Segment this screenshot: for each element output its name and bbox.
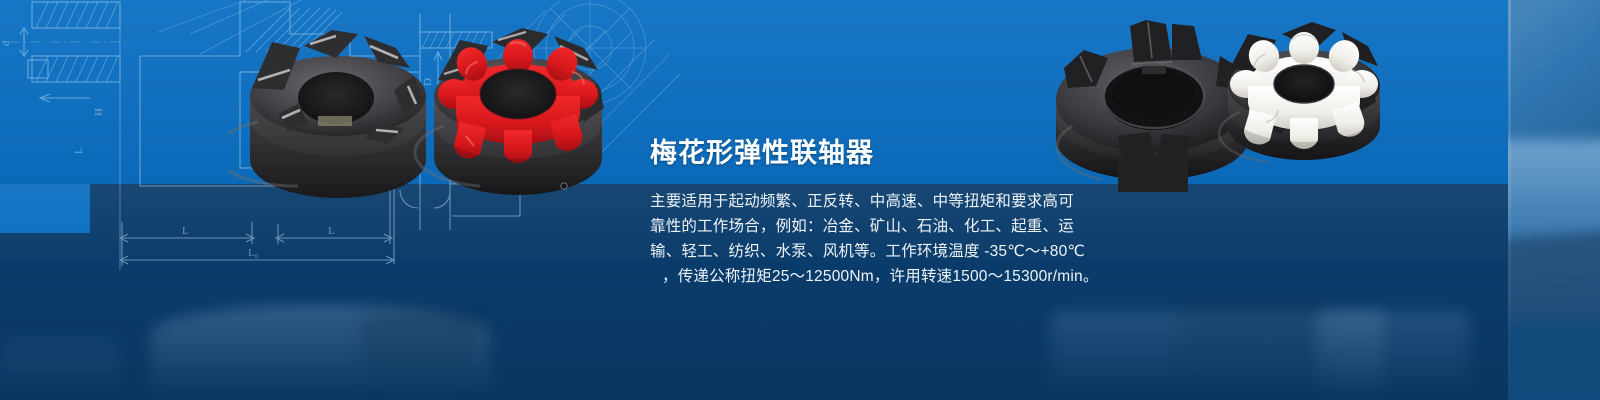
product-banner: d H D L L L L₀ <box>0 0 1600 400</box>
svg-text:L: L <box>328 225 335 237</box>
product-image-left-coupling-pair <box>228 18 618 218</box>
background-photo-right-machinery <box>1508 0 1600 400</box>
svg-text:d: d <box>0 40 12 46</box>
svg-text:H: H <box>93 108 105 116</box>
description-line-2: 靠性的工作场合，例如：冶金、矿山、石油、化工、起重、运 <box>650 214 1070 239</box>
svg-text:L: L <box>73 147 85 154</box>
reflection-right-edge <box>1315 310 1385 400</box>
svg-text:L: L <box>182 225 189 237</box>
description-line-3: 输、轻工、纺织、水泵、风机等。工作环境温度 -35℃～+80℃ <box>650 239 1070 264</box>
reflection-right-product-shadow <box>1180 300 1330 400</box>
reflection-left-product-shadow <box>360 314 480 394</box>
description-line-4: ，传递公称扭矩25～12500Nm，许用转速1500～15300r/min。 <box>650 264 1070 289</box>
banner-copy: 梅花形弹性联轴器 主要适用于起动频繁、正反转、中高速、中等扭矩和要求高可 靠性的… <box>650 138 1070 289</box>
svg-text:L₀: L₀ <box>248 247 259 259</box>
page-title: 梅花形弹性联轴器 <box>650 138 1070 169</box>
reflection-far-left <box>0 340 120 400</box>
description-line-1: 主要适用于起动频繁、正反转、中高速、中等扭矩和要求高可 <box>650 189 1070 214</box>
product-image-right-coupling-pair <box>1022 4 1382 194</box>
